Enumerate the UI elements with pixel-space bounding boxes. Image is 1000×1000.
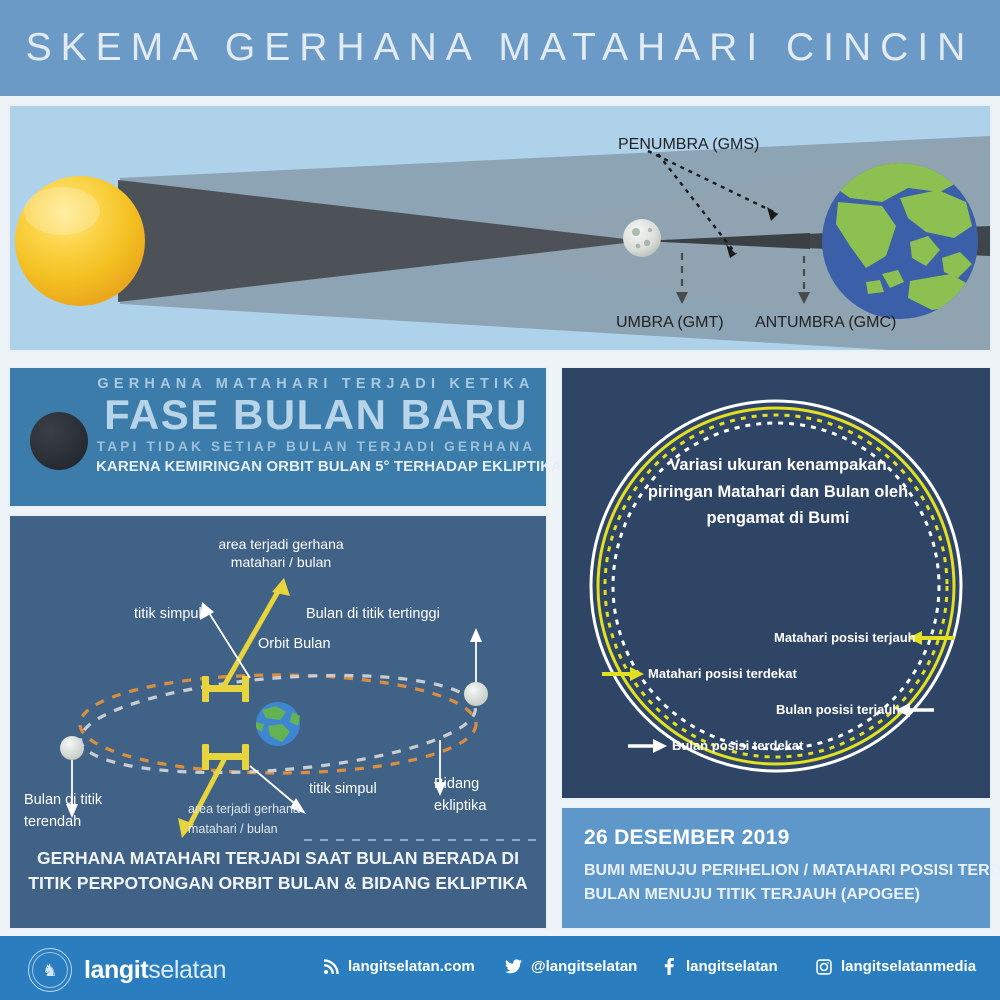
new-moon-phase-panel: GERHANA MATAHARI TERJADI KETIKA FASE BUL… (8, 366, 548, 508)
label-eclipse-area-bottom: area terjadi gerhana matahari / bulan (188, 799, 310, 839)
brand-wordmark: langitselatan (84, 956, 226, 985)
twitter-icon (505, 958, 522, 975)
earth-icon-small (256, 702, 300, 746)
orbit-caption-l2: TITIK PERPOTONGAN ORBIT BULAN & BIDANG E… (24, 871, 532, 896)
new-moon-icon (30, 412, 88, 470)
eclipse-geometry-panel: PENUMBRA (GMS) UMBRA (GMT) ANTUMBRA (GMC… (8, 104, 992, 352)
label-sun-near: Matahari posisi terdekat (648, 666, 797, 681)
label-sun-far: Matahari posisi terjauh (774, 630, 916, 645)
apparent-size-title: Variasi ukuran kenampakan piringan Matah… (590, 452, 966, 532)
arrow-moon-far (896, 703, 934, 717)
header-bar: SKEMA GERHANA MATAHARI CINCIN (0, 0, 1000, 96)
apparent-size-svg (562, 368, 990, 798)
brand-wordmark-light: selatan (148, 956, 226, 984)
orbit-caption: GERHANA MATAHARI TERJADI SAAT BULAN BERA… (24, 846, 532, 897)
new-moon-headline: FASE BULAN BARU (96, 393, 536, 437)
label-moon-near: Bulan posisi terdekat (672, 738, 803, 753)
apparent-size-title-l2: piringan Matahari dan Bulan oleh (590, 479, 966, 506)
event-date: 26 DESEMBER 2019 (584, 826, 790, 850)
brand-logo[interactable]: ♞ langitselatan (28, 948, 226, 992)
label-moon-low-l1: Bulan di titik (24, 790, 134, 812)
label-moon-high: Bulan di titik tertinggi (306, 605, 440, 624)
label-penumbra: PENUMBRA (GMS) (618, 136, 759, 154)
infographic-page: SKEMA GERHANA MATAHARI CINCIN (0, 0, 1000, 1000)
label-eclipse-area-top-l2: matahari / bulan (196, 553, 366, 571)
label-moon-far: Bulan posisi terjauh (776, 702, 900, 717)
event-note-2: BULAN MENUJU TITIK TERJAUH (APOGEE) (584, 886, 920, 904)
label-moon-low: Bulan di titik terendah (24, 790, 134, 834)
apparent-size-panel: Variasi ukuran kenampakan piringan Matah… (560, 366, 992, 800)
moon-high-icon (464, 682, 488, 706)
facebook-icon (660, 958, 677, 975)
label-ecliptic-plane: Bidang ekliptika (434, 774, 524, 818)
node-top-leader (206, 608, 250, 678)
label-moon-low-l2: terendah (24, 812, 134, 834)
label-node-top: titik simpul (134, 605, 202, 624)
langitselatan-seal-icon: ♞ (28, 948, 72, 992)
apparent-size-title-l1: Variasi ukuran kenampakan (590, 452, 966, 479)
footer-website-link[interactable]: langitselatan.com (322, 958, 475, 975)
label-eclipse-area-bottom-l1: area terjadi gerhana (188, 799, 310, 819)
footer-twitter-label: @langitselatan (531, 958, 637, 975)
label-ecliptic-plane-l2: ekliptika (434, 796, 524, 818)
label-moon-orbit: Orbit Bulan (258, 635, 331, 654)
footer-website-label: langitselatan.com (348, 958, 475, 975)
apparent-size-title-l3: pengamat di Bumi (590, 505, 966, 532)
page-title: SKEMA GERHANA MATAHARI CINCIN (0, 26, 1000, 70)
orbit-caption-l1: GERHANA MATAHARI TERJADI SAAT BULAN BERA… (24, 846, 532, 871)
moon-icon (623, 219, 661, 257)
footer-twitter-link[interactable]: @langitselatan (505, 958, 637, 975)
new-moon-line-4: KARENA KEMIRINGAN ORBIT BULAN 5° TERHADA… (96, 458, 536, 475)
label-antumbra: ANTUMBRA (GMC) (755, 314, 896, 332)
new-moon-line-1: GERHANA MATAHARI TERJADI KETIKA (96, 376, 536, 392)
label-node-bottom: titik simpul (309, 780, 377, 799)
footer-bar: ♞ langitselatan langitselatan.com (0, 936, 1000, 1000)
footer-facebook-link[interactable]: langitselatan (660, 958, 778, 975)
new-moon-text-block: GERHANA MATAHARI TERJADI KETIKA FASE BUL… (96, 376, 536, 475)
footer-facebook-label: langitselatan (686, 958, 778, 975)
rss-icon (322, 958, 339, 975)
footer-instagram-link[interactable]: langitselatanmedia (815, 958, 976, 975)
instagram-icon (815, 958, 832, 975)
orbit-nodes-panel: area terjadi gerhana matahari / bulan ti… (8, 514, 548, 930)
label-ecliptic-plane-l1: Bidang (434, 774, 524, 796)
label-eclipse-area-top-l1: area terjadi gerhana (196, 535, 366, 553)
brand-wordmark-bold: langit (84, 956, 148, 984)
moon-low-icon (60, 736, 84, 760)
footer-instagram-label: langitselatanmedia (841, 958, 976, 975)
label-eclipse-area-bottom-l2: matahari / bulan (188, 819, 310, 839)
event-date-panel: 26 DESEMBER 2019 BUMI MENUJU PERIHELION … (560, 806, 992, 930)
event-note-1: BUMI MENUJU PERIHELION / MATAHARI POSISI… (584, 862, 1000, 880)
label-umbra: UMBRA (GMT) (616, 314, 724, 332)
label-eclipse-area-top: area terjadi gerhana matahari / bulan (196, 535, 366, 571)
eclipse-area-arrow-top (224, 578, 290, 686)
new-moon-line-3: TAPI TIDAK SETIAP BULAN TERJADI GERHANA (96, 439, 536, 454)
arrow-moon-near (628, 739, 667, 753)
